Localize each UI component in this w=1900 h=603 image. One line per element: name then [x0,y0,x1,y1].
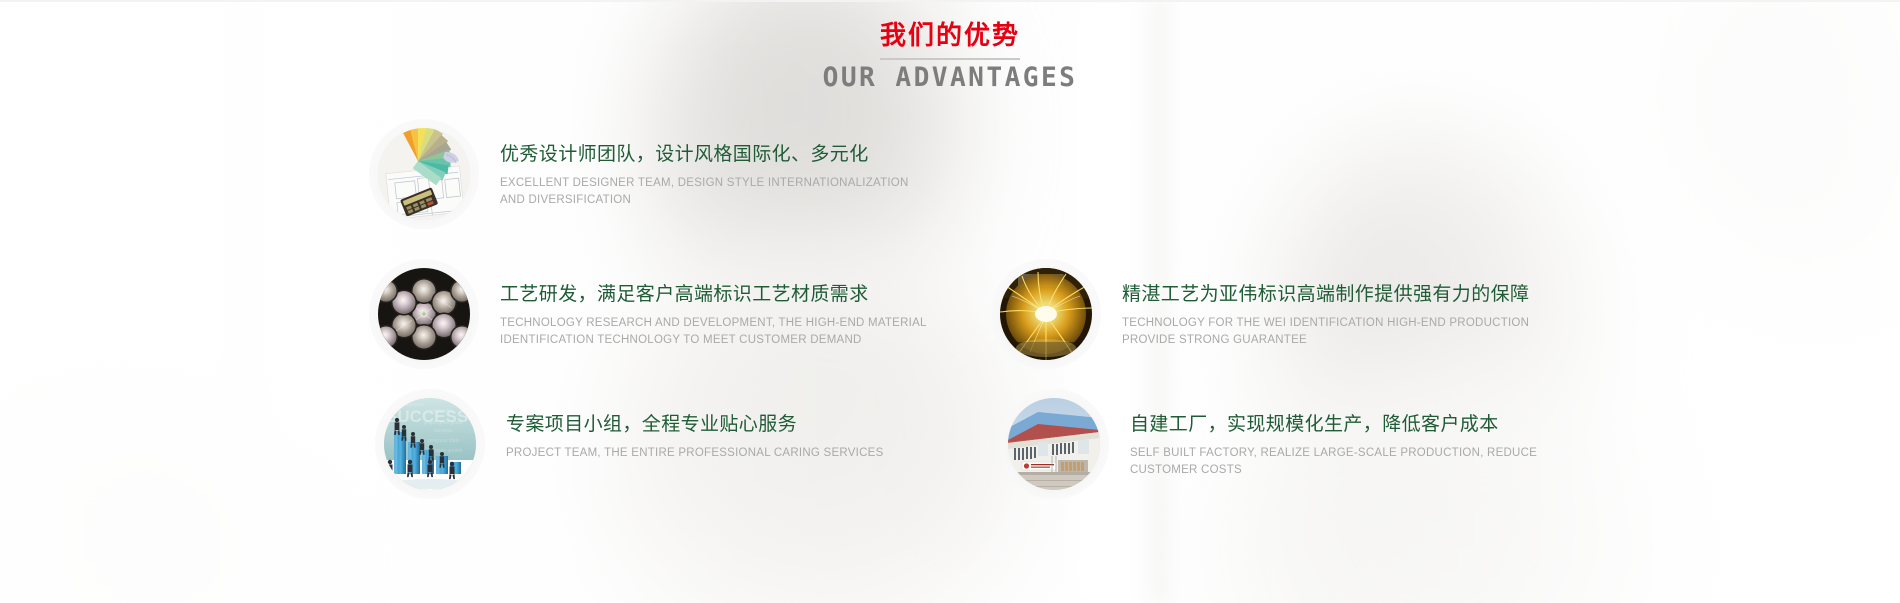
advantage-text-block: 工艺研发，满足客户高端标识工艺材质需求 TECHNOLOGY RESEARCH … [470,268,927,349]
section-title-en: OUR ADVANTAGES [29,62,1872,93]
advantage-title-en: TECHNOLOGY FOR THE WEI IDENTIFICATION HI… [1122,315,1529,350]
advantage-text-block: 自建工厂，实现规模化生产，降低客户成本 SELF BUILT FACTORY, … [1100,398,1537,479]
factory-building-icon [1008,398,1100,490]
svg-text:graph grow goals: graph grow goals [424,420,463,426]
color-swatch-blueprint-icon [378,128,470,220]
advantage-item-designer-team[interactable]: 优秀设计师团队，设计风格国际化、多元化 EXCELLENT DESIGNER T… [378,128,909,220]
advantage-title-en: PROJECT TEAM, THE ENTIRE PROFESSIONAL CA… [506,445,884,462]
svg-text:steps growth: steps growth [434,448,463,454]
advantage-title-cn: 专案项目小组，全程专业贴心服务 [506,412,884,438]
section-title-divider [880,58,1020,60]
advantage-title-en: SELF BUILT FACTORY, REALIZE LARGE-SCALE … [1130,445,1537,480]
advantage-title-en: TECHNOLOGY RESEARCH AND DEVELOPMENT, THE… [500,315,927,350]
svg-text:progress stats: progress stats [428,438,460,444]
advantage-title-cn: 优秀设计师团队，设计风格国际化、多元化 [500,142,909,168]
advantage-item-project-team[interactable]: SUCCESS word businesscorporate graph gro… [384,398,884,490]
svg-text:success: success [434,428,453,434]
metal-tubes-icon [378,268,470,360]
svg-text:corporate: corporate [430,408,451,414]
svg-text:word business: word business [392,402,424,408]
advantage-title-cn: 自建工厂，实现规模化生产，降低客户成本 [1130,412,1537,438]
advantage-title-en: EXCELLENT DESIGNER TEAM, DESIGN STYLE IN… [500,175,909,210]
laser-cutting-sparks-icon [1000,268,1092,360]
section-title-cn: 我们的优势 [0,20,1900,53]
section-header: 我们的优势 OUR ADVANTAGES [0,20,1900,93]
advantage-text-block: 优秀设计师团队，设计风格国际化、多元化 EXCELLENT DESIGNER T… [470,128,909,209]
advantage-title-cn: 工艺研发，满足客户高端标识工艺材质需求 [500,282,927,308]
advantage-item-own-factory[interactable]: 自建工厂，实现规模化生产，降低客户成本 SELF BUILT FACTORY, … [1008,398,1537,490]
advantage-text-block: 专案项目小组，全程专业贴心服务 PROJECT TEAM, THE ENTIRE… [476,398,884,462]
business-success-chart-icon: SUCCESS word businesscorporate graph gro… [384,398,476,490]
advantage-title-cn: 精湛工艺为亚伟标识高端制作提供强有力的保障 [1122,282,1529,308]
advantage-item-craftsmanship[interactable]: 精湛工艺为亚伟标识高端制作提供强有力的保障 TECHNOLOGY FOR THE… [1000,268,1529,360]
advantage-item-technology-rd[interactable]: 工艺研发，满足客户高端标识工艺材质需求 TECHNOLOGY RESEARCH … [378,268,927,360]
advantage-text-block: 精湛工艺为亚伟标识高端制作提供强有力的保障 TECHNOLOGY FOR THE… [1092,268,1529,349]
